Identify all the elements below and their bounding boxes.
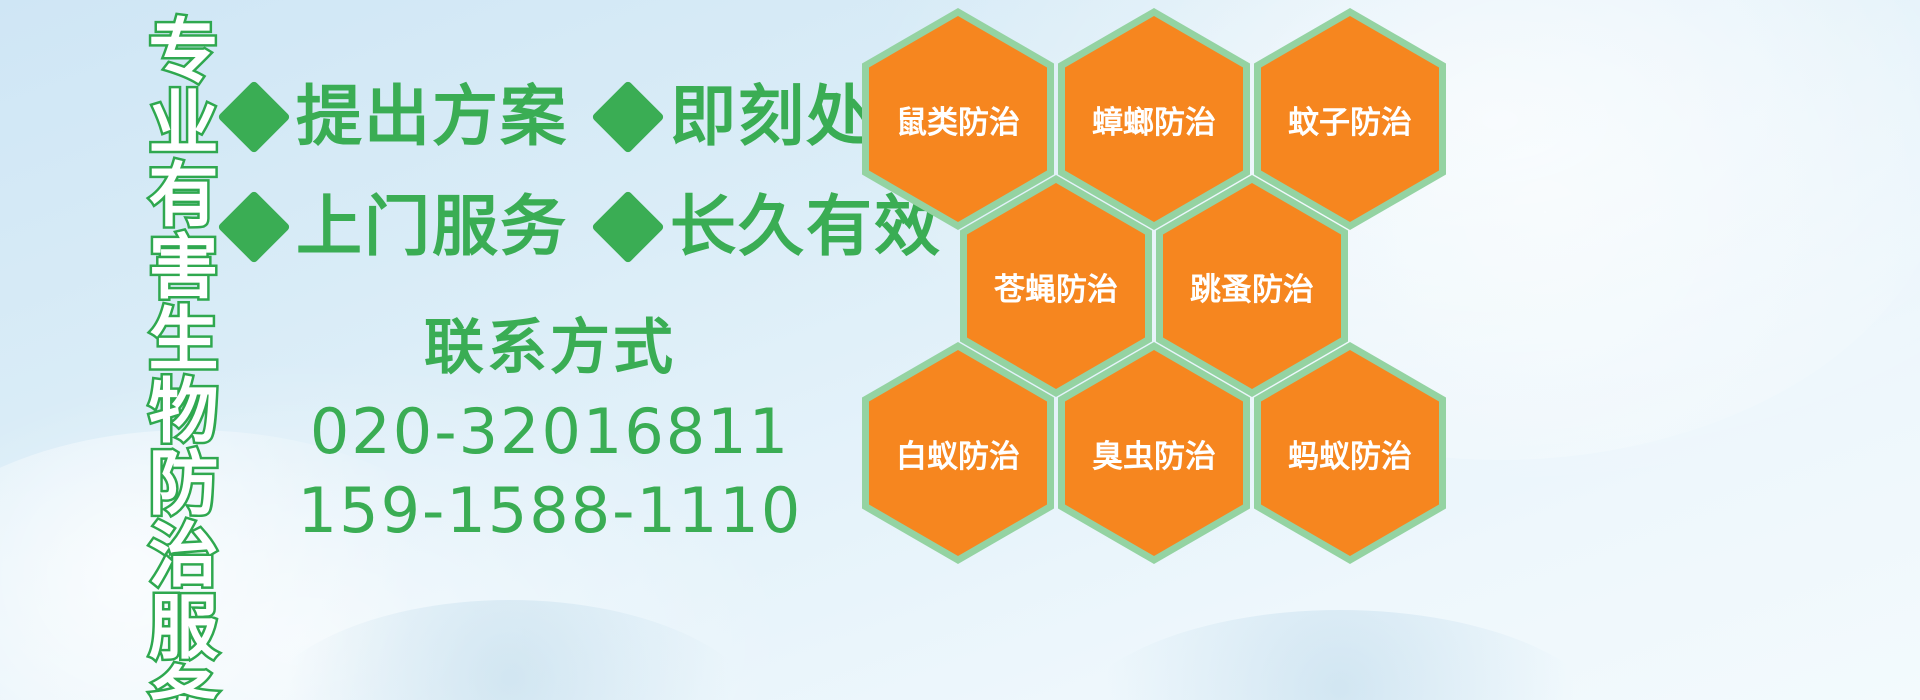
hex-inner: 蟑螂防治 bbox=[1065, 16, 1243, 222]
feature-item-onsite-service: 上门服务 bbox=[296, 194, 568, 260]
diamond-icon bbox=[217, 190, 291, 264]
hex-label: 臭虫防治 bbox=[1092, 431, 1216, 476]
hex-label: 跳蚤防治 bbox=[1190, 264, 1314, 309]
vertical-headline: 专业有害生物防治服务 bbox=[110, 14, 210, 700]
background-blob-bottom-left bbox=[250, 600, 770, 700]
hex-inner: 臭虫防治 bbox=[1065, 350, 1243, 556]
hex-inner: 鼠类防治 bbox=[869, 16, 1047, 222]
feature-row-1: 提出方案 即刻处理 bbox=[228, 84, 942, 150]
diamond-icon bbox=[591, 190, 665, 264]
feature-row-2: 上门服务 长久有效 bbox=[228, 194, 942, 260]
hex-inner: 蚂蚁防治 bbox=[1261, 350, 1439, 556]
hex-inner: 白蚁防治 bbox=[869, 350, 1047, 556]
background-blob-bottom-right bbox=[1060, 610, 1620, 700]
hex-label: 白蚁防治 bbox=[896, 431, 1020, 476]
hex-inner: 苍蝇防治 bbox=[967, 183, 1145, 389]
hex-inner: 蚊子防治 bbox=[1261, 16, 1439, 222]
service-hex-grid: 鼠类防治 蟑螂防治 蚊子防治 苍蝇防治 跳蚤防治 白蚁防治 bbox=[862, 8, 1462, 568]
contact-phone-mobile[interactable]: 159-1588-1110 bbox=[230, 471, 870, 550]
hex-label: 蟑螂防治 bbox=[1092, 97, 1216, 142]
feature-item-propose-plan: 提出方案 bbox=[296, 84, 568, 150]
contact-block: 联系方式 020-32016811 159-1588-1110 bbox=[230, 312, 870, 551]
hex-label: 蚂蚁防治 bbox=[1288, 431, 1412, 476]
promo-banner: 专业有害生物防治服务 提出方案 即刻处理 上门服务 长久有效 联系方式 020-… bbox=[0, 0, 1920, 700]
diamond-icon bbox=[217, 80, 291, 154]
contact-phone-landline[interactable]: 020-32016811 bbox=[230, 392, 870, 471]
contact-title: 联系方式 bbox=[230, 312, 870, 384]
hex-label: 蚊子防治 bbox=[1288, 97, 1412, 142]
diamond-icon bbox=[591, 80, 665, 154]
hex-label: 苍蝇防治 bbox=[994, 264, 1118, 309]
hex-label: 鼠类防治 bbox=[896, 97, 1020, 142]
hex-inner: 跳蚤防治 bbox=[1163, 183, 1341, 389]
